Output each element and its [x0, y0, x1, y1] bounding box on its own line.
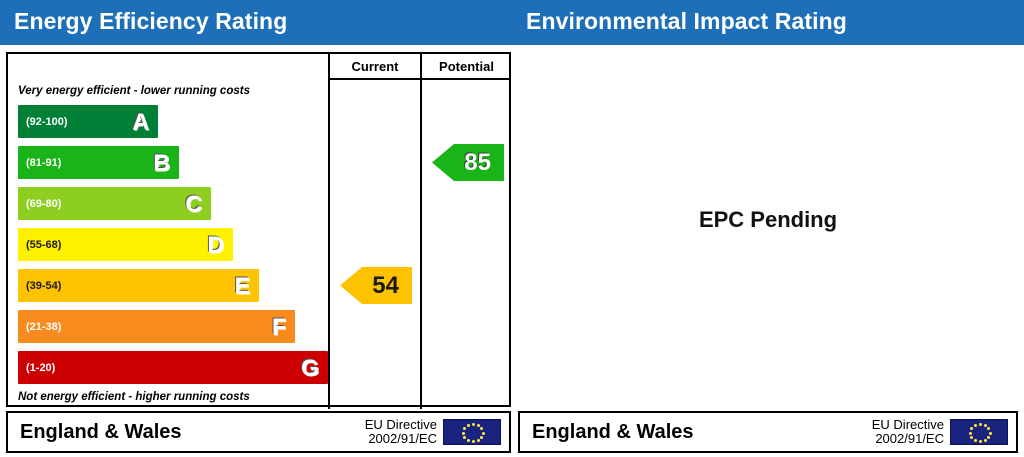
band-letter-label: D — [207, 231, 224, 258]
eu-star-icon — [984, 439, 987, 442]
environmental-impact-title: Environmental Impact Rating — [526, 8, 847, 35]
environmental-impact-header: Environmental Impact Rating — [512, 0, 1024, 45]
eu-star-icon — [979, 440, 982, 443]
energy-efficiency-header: Energy Efficiency Rating — [0, 0, 512, 45]
directive-line-2: 2002/91/EC — [365, 432, 437, 446]
footer-directive-right: EU Directive 2002/91/EC — [872, 418, 944, 446]
column-divider-potential — [420, 54, 422, 409]
caption-not-efficient: Not energy efficient - higher running co… — [18, 391, 250, 403]
rating-band-g: (1-20)G — [18, 351, 328, 384]
eu-star-icon — [477, 424, 480, 427]
band-range-label: (81-91) — [26, 157, 61, 169]
epc-pending-status: EPC Pending — [518, 207, 1018, 233]
rating-band-a: (92-100)A — [18, 105, 158, 138]
band-range-label: (39-54) — [26, 280, 61, 292]
energy-efficiency-title: Energy Efficiency Rating — [14, 8, 287, 35]
eu-star-icon — [463, 436, 466, 439]
eu-star-icon — [974, 439, 977, 442]
eu-star-icon — [467, 439, 470, 442]
footer-region-label: England & Wales — [20, 421, 182, 444]
footer-left: England & Wales EU Directive 2002/91/EC — [6, 411, 511, 453]
column-header-current: Current — [330, 57, 420, 77]
band-letter-label: B — [153, 149, 170, 176]
eu-star-icon — [989, 432, 992, 435]
band-range-label: (92-100) — [26, 116, 68, 128]
rating-band-d: (55-68)D — [18, 228, 233, 261]
eu-star-icon — [472, 440, 475, 443]
band-letter-label: G — [301, 354, 319, 381]
epc-certificate-page: Energy Efficiency Rating Environmental I… — [0, 0, 1024, 457]
current-rating-value: 54 — [372, 274, 412, 298]
eu-star-icon — [477, 439, 480, 442]
eu-star-icon — [480, 436, 483, 439]
current-rating-arrow: 54 — [340, 267, 412, 304]
band-range-label: (1-20) — [26, 362, 55, 374]
eu-star-icon — [462, 432, 465, 435]
eu-star-icon — [984, 424, 987, 427]
environmental-impact-panel: EPC Pending — [518, 52, 1018, 407]
band-range-label: (21-38) — [26, 321, 61, 333]
eu-flag-icon — [443, 419, 501, 445]
directive-line-2: 2002/91/EC — [872, 432, 944, 446]
footer-region-label: England & Wales — [532, 421, 694, 444]
footer-directive-left: EU Directive 2002/91/EC — [365, 418, 437, 446]
eu-star-icon — [970, 436, 973, 439]
column-divider-current — [328, 54, 330, 409]
column-header-potential: Potential — [422, 57, 511, 77]
rating-band-e: (39-54)E — [18, 269, 259, 302]
band-letter-label: F — [272, 313, 286, 340]
eu-star-icon — [472, 423, 475, 426]
band-letter-label: C — [185, 190, 202, 217]
eu-star-icon — [480, 427, 483, 430]
eu-star-icon — [463, 427, 466, 430]
rating-band-c: (69-80)C — [18, 187, 211, 220]
rating-band-b: (81-91)B — [18, 146, 179, 179]
eu-star-icon — [987, 427, 990, 430]
eu-star-icon — [970, 427, 973, 430]
eu-star-icon — [979, 423, 982, 426]
eu-star-icon — [467, 424, 470, 427]
energy-efficiency-chart: Current Potential Very energy efficient … — [6, 52, 511, 407]
band-range-label: (69-80) — [26, 198, 61, 210]
eu-flag-icon — [950, 419, 1008, 445]
potential-rating-arrow: 85 — [432, 144, 504, 181]
potential-rating-value: 85 — [464, 151, 504, 175]
band-letter-label: A — [132, 108, 149, 135]
eu-star-icon — [969, 432, 972, 435]
eu-star-icon — [987, 436, 990, 439]
band-range-label: (55-68) — [26, 239, 61, 251]
directive-line-1: EU Directive — [872, 418, 944, 432]
directive-line-1: EU Directive — [365, 418, 437, 432]
rating-band-f: (21-38)F — [18, 310, 295, 343]
eu-star-icon — [482, 432, 485, 435]
eu-star-icon — [974, 424, 977, 427]
band-letter-label: E — [235, 272, 250, 299]
footer-right: England & Wales EU Directive 2002/91/EC — [518, 411, 1018, 453]
caption-very-efficient: Very energy efficient - lower running co… — [18, 85, 250, 97]
